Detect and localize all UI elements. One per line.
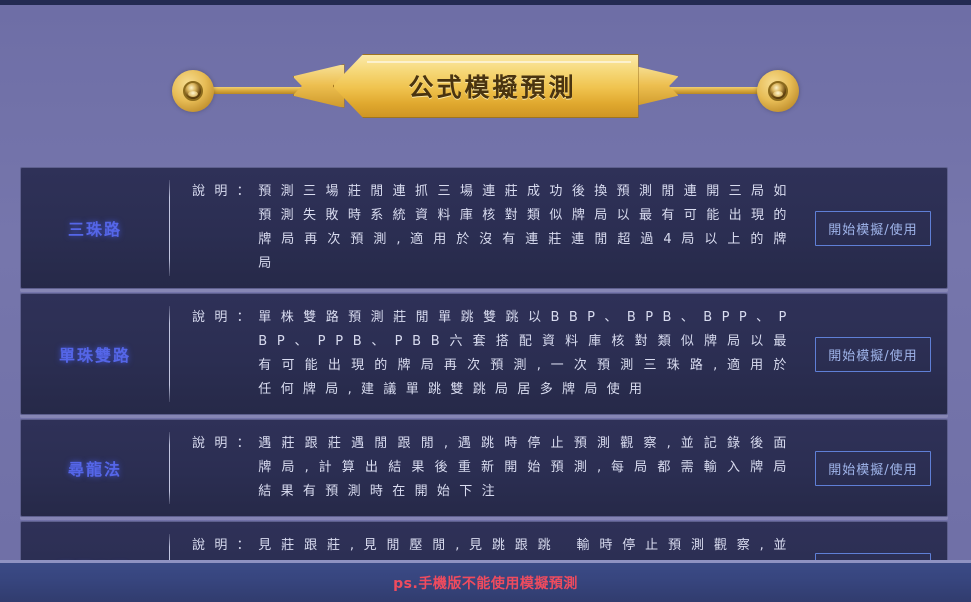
ribbon-body: 公式模擬預測 — [333, 54, 639, 118]
row-action-cell: 開始模擬/使用 — [799, 294, 947, 414]
description-text: 遇 莊 跟 莊 遇 閒 跟 閒 , 遇 跳 時 停 止 預 測 觀 察 , 並 … — [258, 432, 789, 504]
strategy-name: 尋龍法 — [21, 420, 169, 516]
gem-icon — [768, 81, 788, 101]
strategy-name: 三珠路 — [21, 168, 169, 288]
page-header: 公式模擬預測 — [0, 48, 971, 130]
strategy-list: 三珠路 說 明 ： 預 測 三 場 莊 閒 連 抓 三 場 連 莊 成 功 後 … — [20, 167, 948, 602]
description-text: 預 測 三 場 莊 閒 連 抓 三 場 連 莊 成 功 後 換 預 測 閒 連 … — [258, 180, 789, 276]
strategy-description: 說 明 ： 單 株 雙 路 預 測 莊 閒 單 跳 雙 跳 以 B B P 、 … — [170, 294, 799, 414]
medallion-left-icon — [172, 70, 214, 112]
medallion-right-icon — [757, 70, 799, 112]
footer-note: ps.手機版不能使用模擬預測 — [393, 573, 578, 593]
description-text: 單 株 雙 路 預 測 莊 閒 單 跳 雙 跳 以 B B P 、 B P B … — [258, 306, 789, 402]
strategy-description: 說 明 ： 遇 莊 跟 莊 遇 閒 跟 閒 , 遇 跳 時 停 止 預 測 觀 … — [170, 420, 799, 516]
description-label: 說 明 ： — [192, 180, 258, 276]
description-label: 說 明 ： — [192, 306, 258, 402]
row-action-cell: 開始模擬/使用 — [799, 420, 947, 516]
table-row: 尋龍法 說 明 ： 遇 莊 跟 莊 遇 閒 跟 閒 , 遇 跳 時 停 止 預 … — [20, 419, 948, 517]
start-simulation-button[interactable]: 開始模擬/使用 — [815, 451, 930, 486]
page-title: 公式模擬預測 — [394, 68, 576, 104]
title-ribbon: 公式模擬預測 — [333, 54, 639, 118]
gem-icon — [183, 81, 203, 101]
description-label: 說 明 ： — [192, 432, 258, 504]
table-row: 單珠雙路 說 明 ： 單 株 雙 路 預 測 莊 閒 單 跳 雙 跳 以 B B… — [20, 293, 948, 415]
footer-bar: ps.手機版不能使用模擬預測 — [0, 560, 971, 602]
start-simulation-button[interactable]: 開始模擬/使用 — [815, 211, 930, 246]
row-action-cell: 開始模擬/使用 — [799, 168, 947, 288]
strategy-description: 說 明 ： 預 測 三 場 莊 閒 連 抓 三 場 連 莊 成 功 後 換 預 … — [170, 168, 799, 288]
strategy-name: 單珠雙路 — [21, 294, 169, 414]
start-simulation-button[interactable]: 開始模擬/使用 — [815, 337, 930, 372]
table-row: 三珠路 說 明 ： 預 測 三 場 莊 閒 連 抓 三 場 連 莊 成 功 後 … — [20, 167, 948, 289]
